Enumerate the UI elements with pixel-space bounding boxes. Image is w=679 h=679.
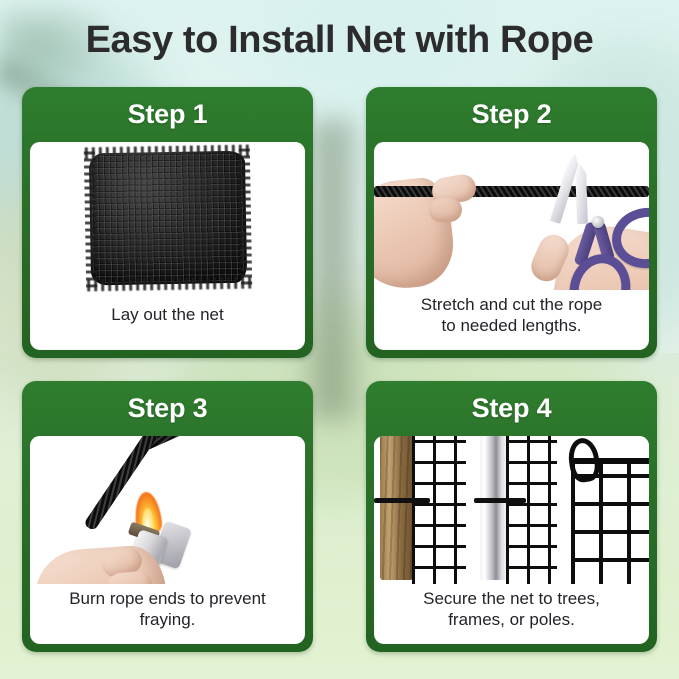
cable-tie	[374, 498, 430, 503]
step-4-body: Secure the net to trees, frames, or pole…	[374, 436, 649, 644]
step-card-1: Step 1 Lay out the net	[22, 87, 313, 358]
burn-rope-scene	[30, 436, 305, 584]
cable-tie	[474, 498, 526, 503]
cut-rope-scene	[374, 142, 649, 290]
step-2-body: Stretch and cut the rope to needed lengt…	[374, 142, 649, 350]
left-hand-finger	[429, 197, 463, 222]
net-edge-right	[238, 149, 251, 285]
steps-grid: Step 1 Lay out the net St	[22, 87, 657, 652]
net-fringe	[87, 277, 251, 292]
scissors-pivot-screw	[592, 216, 604, 228]
net-mesh	[412, 436, 466, 584]
step-3-body: Burn rope ends to prevent fraying.	[30, 436, 305, 644]
step-4-header: Step 4	[374, 381, 649, 436]
net-corner-loop-pane	[557, 436, 649, 584]
step-2-header: Step 2	[374, 87, 649, 142]
step-4-photo	[374, 436, 649, 584]
page-title: Easy to Install Net with Rope	[0, 19, 679, 62]
step-3-caption: Burn rope ends to prevent fraying.	[30, 584, 305, 645]
net-weave-light	[90, 153, 244, 284]
step-card-3: Step 3	[22, 381, 313, 652]
metal-pole	[480, 436, 506, 580]
tree-trunk	[380, 436, 414, 580]
mount-to-pole-pane	[466, 436, 558, 584]
step-4-caption: Secure the net to trees, frames, or pole…	[374, 584, 649, 645]
net-mesh	[506, 436, 558, 584]
net-edge-left	[83, 151, 96, 287]
step-1-caption: Lay out the net	[30, 294, 305, 350]
mount-to-tree-pane	[374, 436, 466, 584]
step-2-caption: Stretch and cut the rope to needed lengt…	[374, 290, 649, 351]
step-2-photo	[374, 142, 649, 290]
step-1-body: Lay out the net	[30, 142, 305, 350]
net-mounting-scene	[374, 436, 649, 584]
step-card-4: Step 4	[366, 381, 657, 652]
folded-net-icon	[88, 151, 246, 286]
scissors-blade	[575, 164, 588, 224]
step-3-photo	[30, 436, 305, 584]
step-3-header: Step 3	[30, 381, 305, 436]
step-1-photo	[30, 142, 305, 294]
infographic-poster: Easy to Install Net with Rope Step 1	[0, 0, 679, 679]
black-rope	[374, 186, 649, 197]
step-card-2: Step 2	[366, 87, 657, 358]
step-1-header: Step 1	[30, 87, 305, 142]
